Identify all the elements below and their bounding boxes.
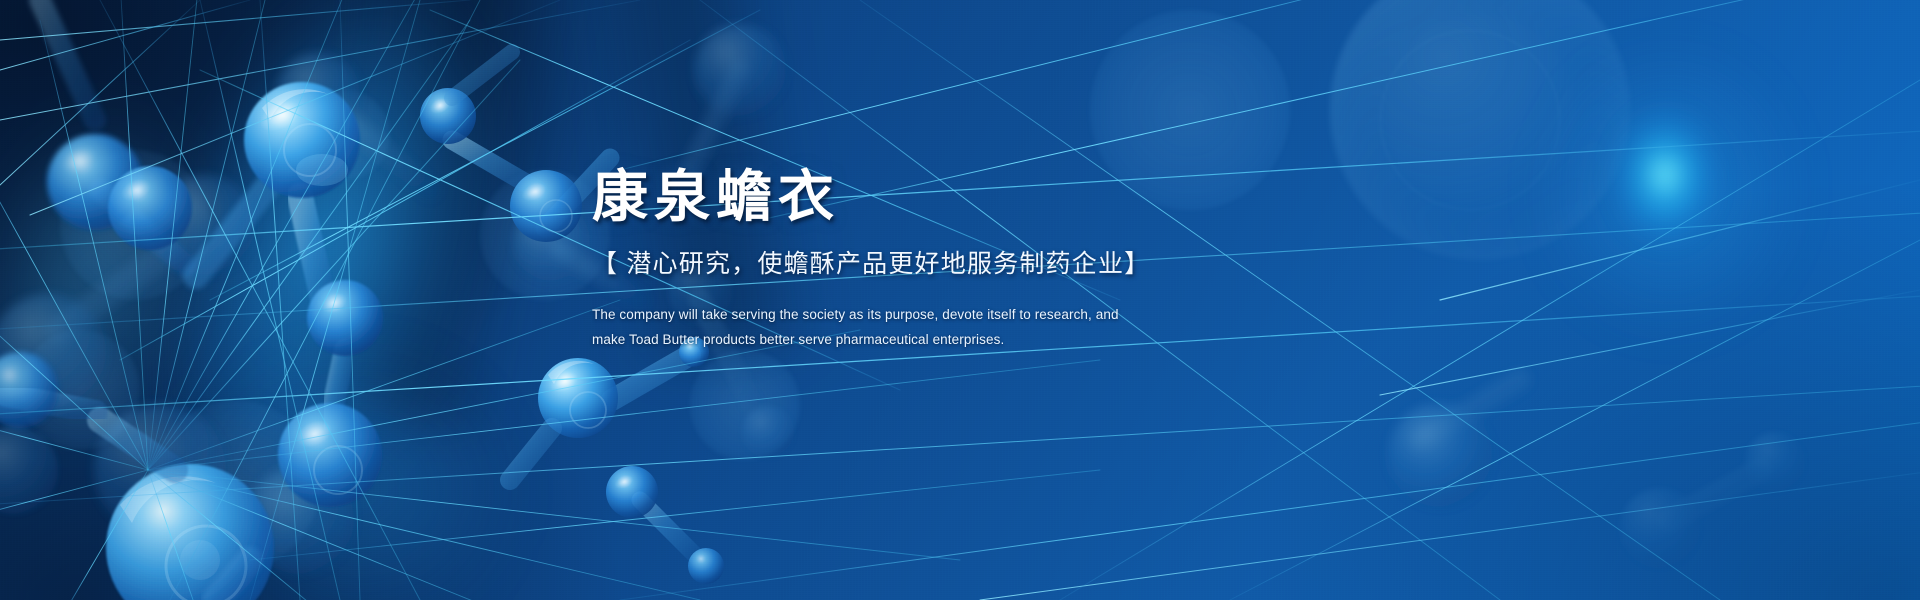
english-description: The company will take serving the societ…	[592, 302, 1292, 352]
page-subtitle: 【 潜心研究，使蟾酥产品更好地服务制药企业】	[592, 244, 1292, 280]
english-line-1: The company will take serving the societ…	[592, 302, 1292, 327]
hero-banner: 康泉蟾衣 【 潜心研究，使蟾酥产品更好地服务制药企业】 The company …	[0, 0, 1920, 600]
hero-copy: 康泉蟾衣 【 潜心研究，使蟾酥产品更好地服务制药企业】 The company …	[592, 168, 1292, 352]
page-title: 康泉蟾衣	[592, 168, 1292, 226]
english-line-2: make Toad Butter products better serve p…	[592, 327, 1292, 352]
